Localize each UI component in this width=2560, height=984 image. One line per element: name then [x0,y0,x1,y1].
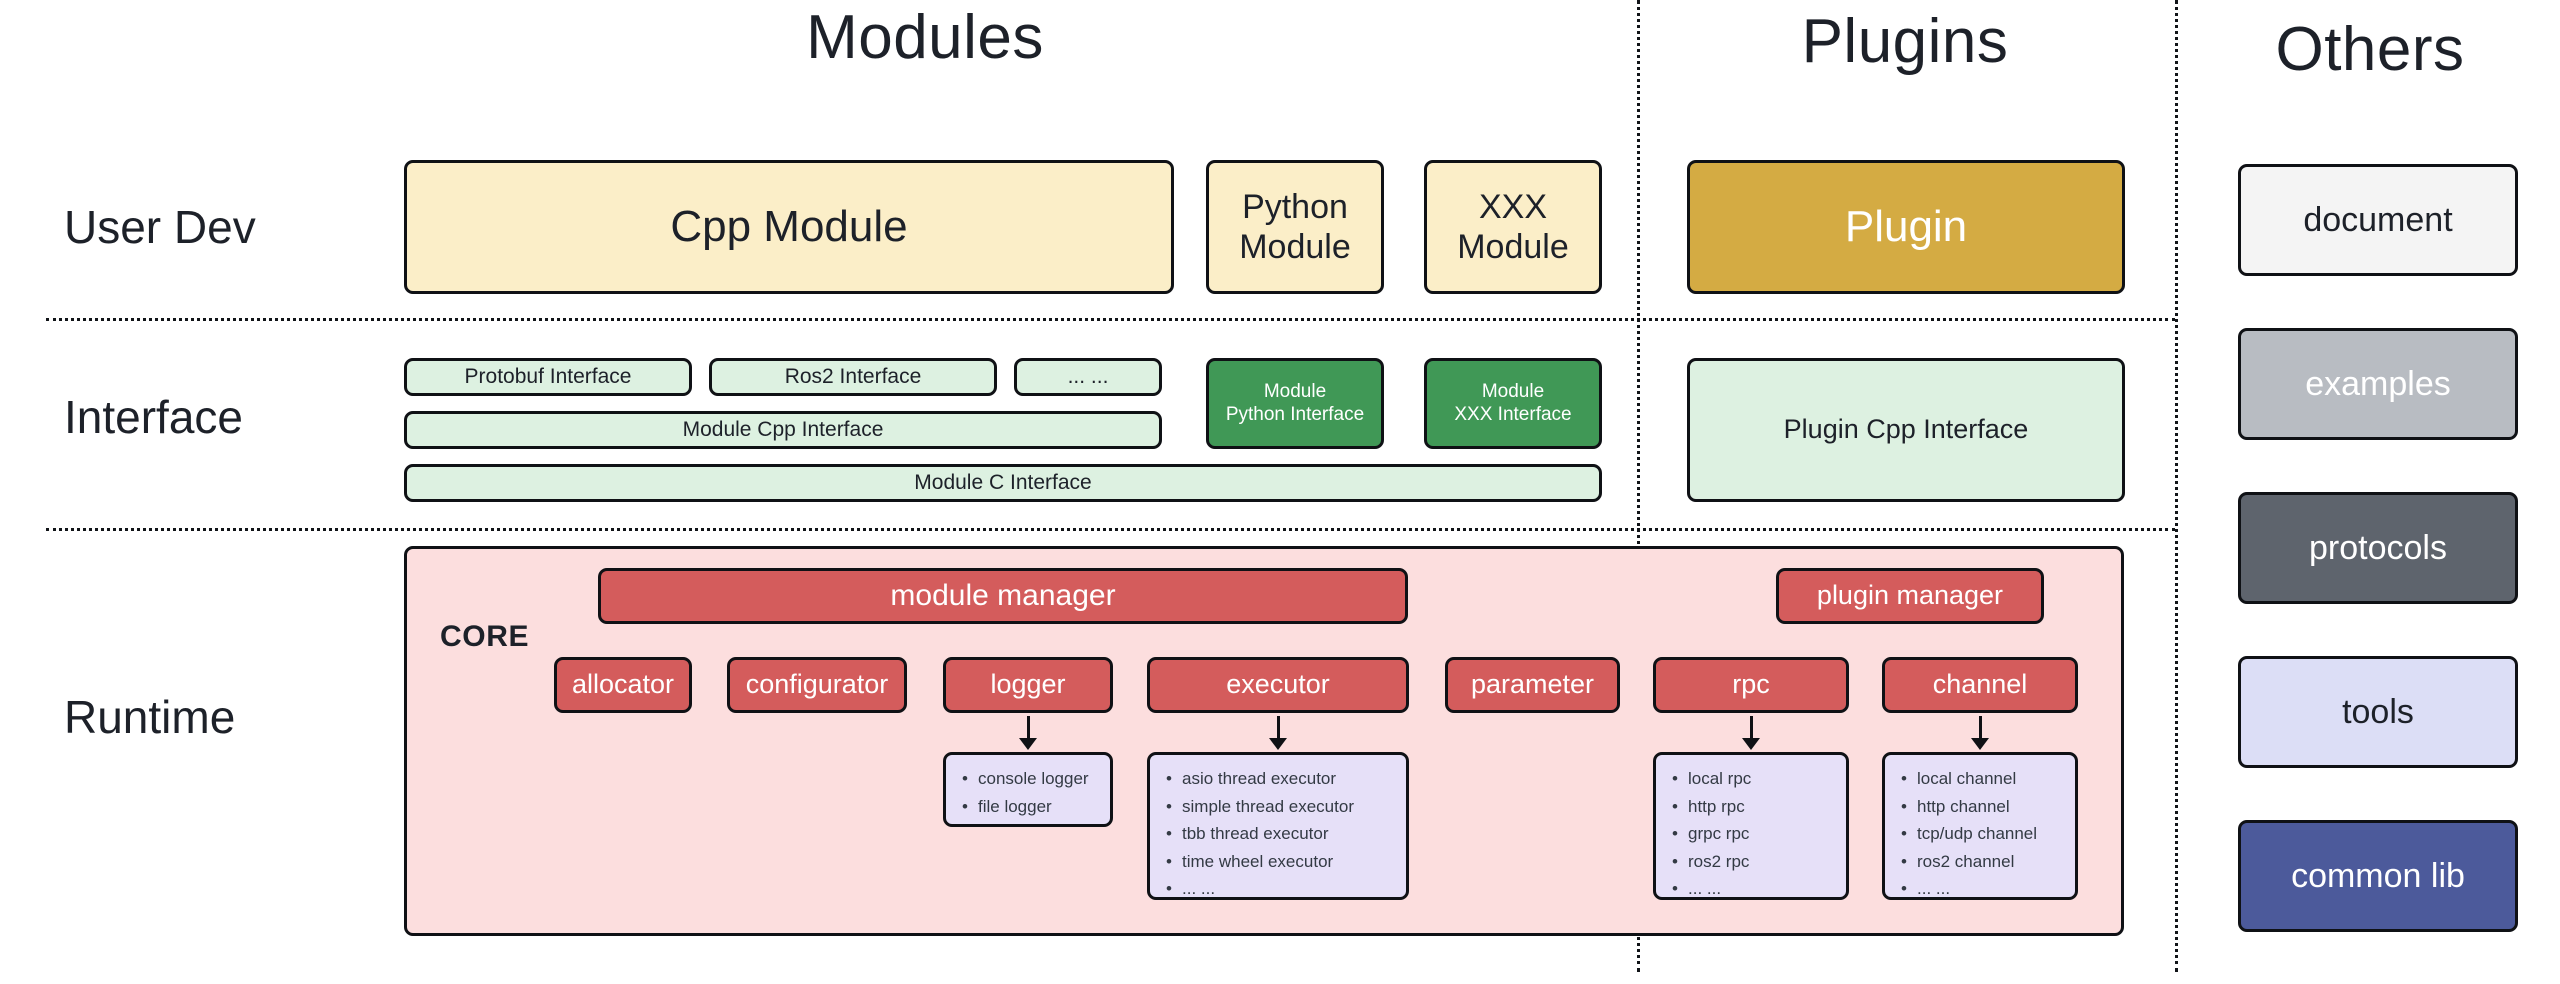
component-configurator[interactable]: configurator [727,657,907,713]
rpc-details-list: local rpchttp rpcgrpc rpcros2 rpc... ... [1668,765,1836,903]
list-item: ... ... [1917,875,2065,903]
list-item: ... ... [1688,875,1836,903]
plugin-cpp-interface-box[interactable]: Plugin Cpp Interface [1687,358,2125,502]
component-logger[interactable]: logger [943,657,1113,713]
component-allocator[interactable]: allocator [554,657,692,713]
cpp-module-box[interactable]: Cpp Module [404,160,1174,294]
component-executor[interactable]: executor [1147,657,1409,713]
list-item: time wheel executor [1182,848,1396,876]
row-label-user-dev: User Dev [64,200,256,254]
ros2-interface-box[interactable]: Ros2 Interface [709,358,997,396]
rpc-details-card: local rpchttp rpcgrpc rpcros2 rpc... ... [1653,752,1849,900]
others-item-document[interactable]: document [2238,164,2518,276]
divider-interface-runtime [46,528,2175,531]
module-c-interface-box[interactable]: Module C Interface [404,464,1602,502]
module-python-interface-box[interactable]: Module Python Interface [1206,358,1384,449]
list-item: grpc rpc [1688,820,1836,848]
arrow-channel-down [1967,716,1993,750]
list-item: ros2 rpc [1688,848,1836,876]
component-parameter[interactable]: parameter [1445,657,1620,713]
module-cpp-interface-box[interactable]: Module Cpp Interface [404,411,1162,449]
others-item-examples[interactable]: examples [2238,328,2518,440]
list-item: local channel [1917,765,2065,793]
others-item-tools[interactable]: tools [2238,656,2518,768]
column-title-plugins: Plugins [1640,6,2170,77]
list-item: ros2 channel [1917,848,2065,876]
component-channel[interactable]: channel [1882,657,2078,713]
list-item: http rpc [1688,793,1836,821]
logger-details-list: console loggerfile logger [958,765,1100,820]
protobuf-interface-box[interactable]: Protobuf Interface [404,358,692,396]
plugin-box[interactable]: Plugin [1687,160,2125,294]
channel-details-list: local channelhttp channeltcp/udp channel… [1897,765,2065,903]
others-item-common-lib[interactable]: common lib [2238,820,2518,932]
arrow-rpc-down [1738,716,1764,750]
column-title-modules: Modules [760,2,1090,73]
logger-details-card: console loggerfile logger [943,752,1113,827]
plugin-manager-box[interactable]: plugin manager [1776,568,2044,624]
architecture-diagram: Modules Plugins Others User Dev Interfac… [0,0,2560,984]
python-module-box[interactable]: Python Module [1206,160,1384,294]
list-item: simple thread executor [1182,793,1396,821]
core-label: CORE [440,620,529,654]
row-label-interface: Interface [64,390,243,444]
arrow-executor-down [1265,716,1291,750]
xxx-module-box[interactable]: XXX Module [1424,160,1602,294]
arrow-logger-down [1015,716,1041,750]
column-title-others: Others [2180,14,2560,85]
other-interface-box[interactable]: ... ... [1014,358,1162,396]
list-item: tbb thread executor [1182,820,1396,848]
executor-details-list: asio thread executorsimple thread execut… [1162,765,1396,903]
divider-userdev-interface [46,318,2175,321]
module-manager-box[interactable]: module manager [598,568,1408,624]
component-rpc[interactable]: rpc [1653,657,1849,713]
executor-details-card: asio thread executorsimple thread execut… [1147,752,1409,900]
list-item: file logger [978,793,1100,821]
list-item: ... ... [1182,875,1396,903]
others-item-protocols[interactable]: protocols [2238,492,2518,604]
list-item: http channel [1917,793,2065,821]
row-label-runtime: Runtime [64,690,235,744]
channel-details-card: local channelhttp channeltcp/udp channel… [1882,752,2078,900]
list-item: local rpc [1688,765,1836,793]
divider-plugins-others [2175,0,2178,972]
list-item: tcp/udp channel [1917,820,2065,848]
list-item: console logger [978,765,1100,793]
module-xxx-interface-box[interactable]: Module XXX Interface [1424,358,1602,449]
list-item: asio thread executor [1182,765,1396,793]
